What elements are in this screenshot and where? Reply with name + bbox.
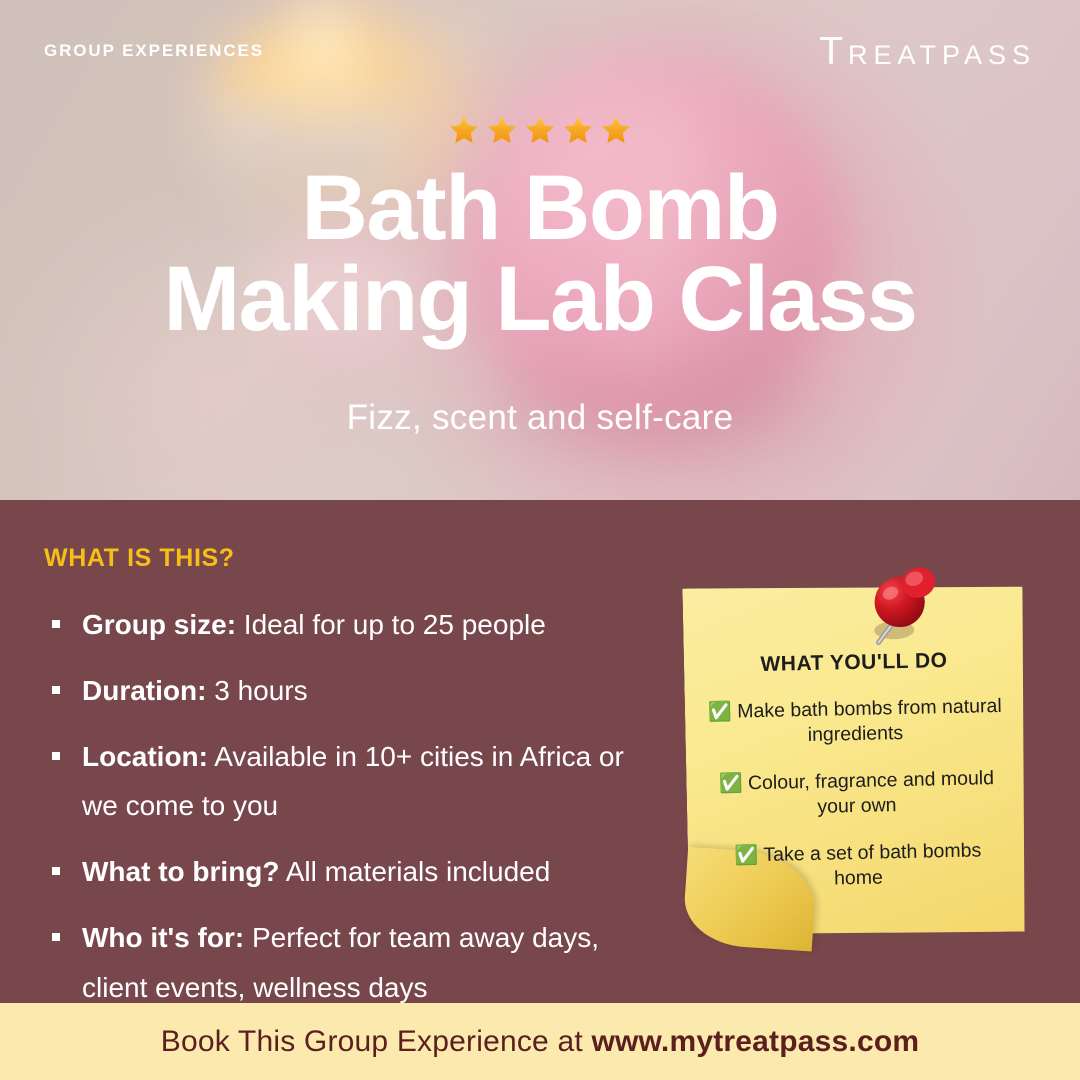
sticky-note-item-text: Colour, fragrance and mould your own: [742, 767, 994, 818]
poster: GROUP EXPERIENCES T REATPASS Bath Bomb M…: [0, 0, 1080, 1080]
star-icon: [561, 114, 595, 147]
detail-item: Location: Available in 10+ cities in Afr…: [44, 732, 644, 832]
check-mark-icon: ✅: [734, 845, 758, 866]
detail-item-text: All materials included: [280, 856, 551, 887]
detail-item-text: 3 hours: [206, 675, 307, 706]
detail-item: Group size: Ideal for up to 25 people: [44, 600, 644, 650]
star-icon: [523, 114, 557, 147]
star-icon: [447, 114, 481, 147]
detail-item-label: Who it's for:: [82, 922, 244, 953]
detail-item: Duration: 3 hours: [44, 666, 644, 716]
detail-item: Who it's for: Perfect for team away days…: [44, 913, 644, 1013]
star-icon: [599, 114, 633, 147]
brand-rest: REATPASS: [848, 42, 1036, 69]
rating-stars: [0, 114, 1080, 154]
detail-item-text: Ideal for up to 25 people: [236, 609, 546, 640]
detail-item-label: Group size:: [82, 609, 236, 640]
section-heading: WHAT IS THIS?: [44, 544, 235, 573]
sticky-note: WHAT YOU'LL DO ✅ Make bath bombs from na…: [682, 581, 1029, 938]
footer-cta: Book This Group Experience at www.mytrea…: [161, 1025, 920, 1059]
brand-logo: T REATPASS: [819, 32, 1036, 71]
detail-item-label: Duration:: [82, 675, 206, 706]
detail-item: What to bring? All materials included: [44, 847, 644, 897]
title-line-2: Making Lab Class: [0, 254, 1080, 345]
sticky-note-item: ✅ Colour, fragrance and mould your own: [708, 766, 1005, 822]
sticky-note-list: ✅ Make bath bombs from natural ingredien…: [707, 694, 1007, 916]
eyebrow-label: GROUP EXPERIENCES: [44, 41, 264, 61]
details-list: Group size: Ideal for up to 25 peopleDur…: [44, 600, 644, 1029]
hero-section: GROUP EXPERIENCES T REATPASS Bath Bomb M…: [0, 0, 1080, 500]
footer-bar: Book This Group Experience at www.mytrea…: [0, 1003, 1080, 1080]
brand-initial: T: [819, 32, 848, 71]
sticky-note-item-text: Make bath bombs from natural ingredients: [732, 695, 1002, 746]
candle-flame: [305, 6, 339, 64]
sticky-note-item-text: Take a set of bath bombs home: [758, 839, 981, 889]
page-subtitle: Fizz, scent and self-care: [0, 398, 1080, 438]
sticky-note-item: ✅ Take a set of bath bombs home: [710, 838, 1007, 894]
check-mark-icon: ✅: [719, 773, 743, 794]
detail-item-label: What to bring?: [82, 856, 280, 887]
sticky-note-item: ✅ Make bath bombs from natural ingredien…: [707, 694, 1004, 750]
star-icon: [485, 114, 519, 147]
page-title: Bath Bomb Making Lab Class: [0, 163, 1080, 345]
pushpin-icon: [863, 559, 943, 657]
detail-item-label: Location:: [82, 741, 208, 772]
check-mark-icon: ✅: [708, 702, 732, 723]
title-line-1: Bath Bomb: [0, 163, 1080, 254]
footer-url[interactable]: www.mytreatpass.com: [591, 1025, 919, 1058]
footer-prefix: Book This Group Experience at: [161, 1025, 592, 1058]
